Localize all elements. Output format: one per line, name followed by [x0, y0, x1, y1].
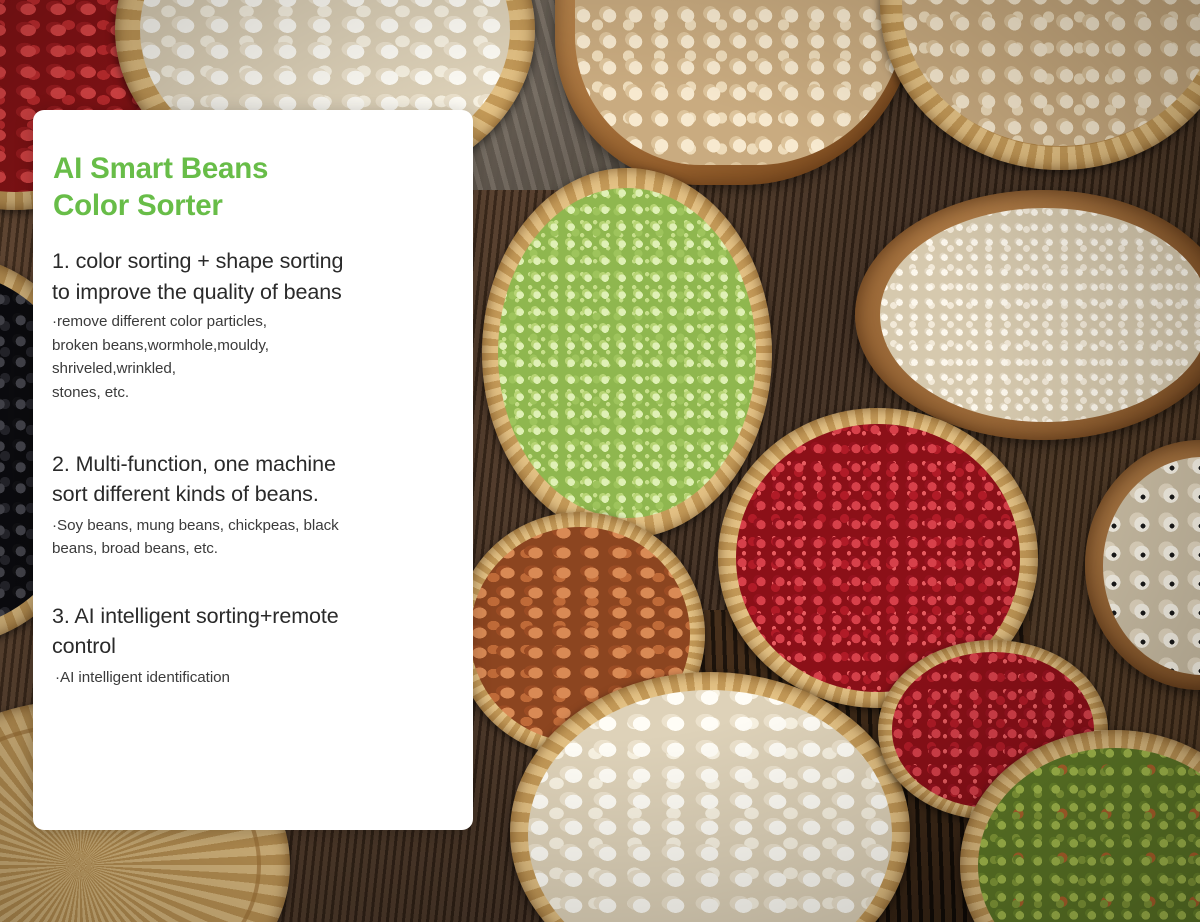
feature-3-heading: 3. AI intelligent sorting+remote control [52, 601, 449, 662]
feature-section-3: 3. AI intelligent sorting+remote control… [52, 601, 449, 690]
feature-section-2: 2. Multi-function, one machine sort diff… [52, 449, 449, 561]
feature-2-body: ·Soy beans, mung beans, chickpeas, black… [52, 514, 449, 561]
feature-section-1: 1. color sorting + shape sorting to impr… [52, 246, 449, 404]
beans-green-split-peas [498, 188, 756, 518]
feature-1-body: ·remove different color particles, broke… [52, 310, 449, 404]
page-title: AI Smart Beans Color Sorter [52, 150, 449, 224]
feature-1-heading: 1. color sorting + shape sorting to impr… [52, 246, 449, 307]
feature-3-body: ·AI intelligent identification [52, 666, 449, 690]
feature-2-heading: 2. Multi-function, one machine sort diff… [52, 449, 449, 510]
beans-pearl-barley [880, 208, 1200, 422]
info-card: AI Smart Beans Color Sorter 1. color sor… [33, 110, 473, 830]
